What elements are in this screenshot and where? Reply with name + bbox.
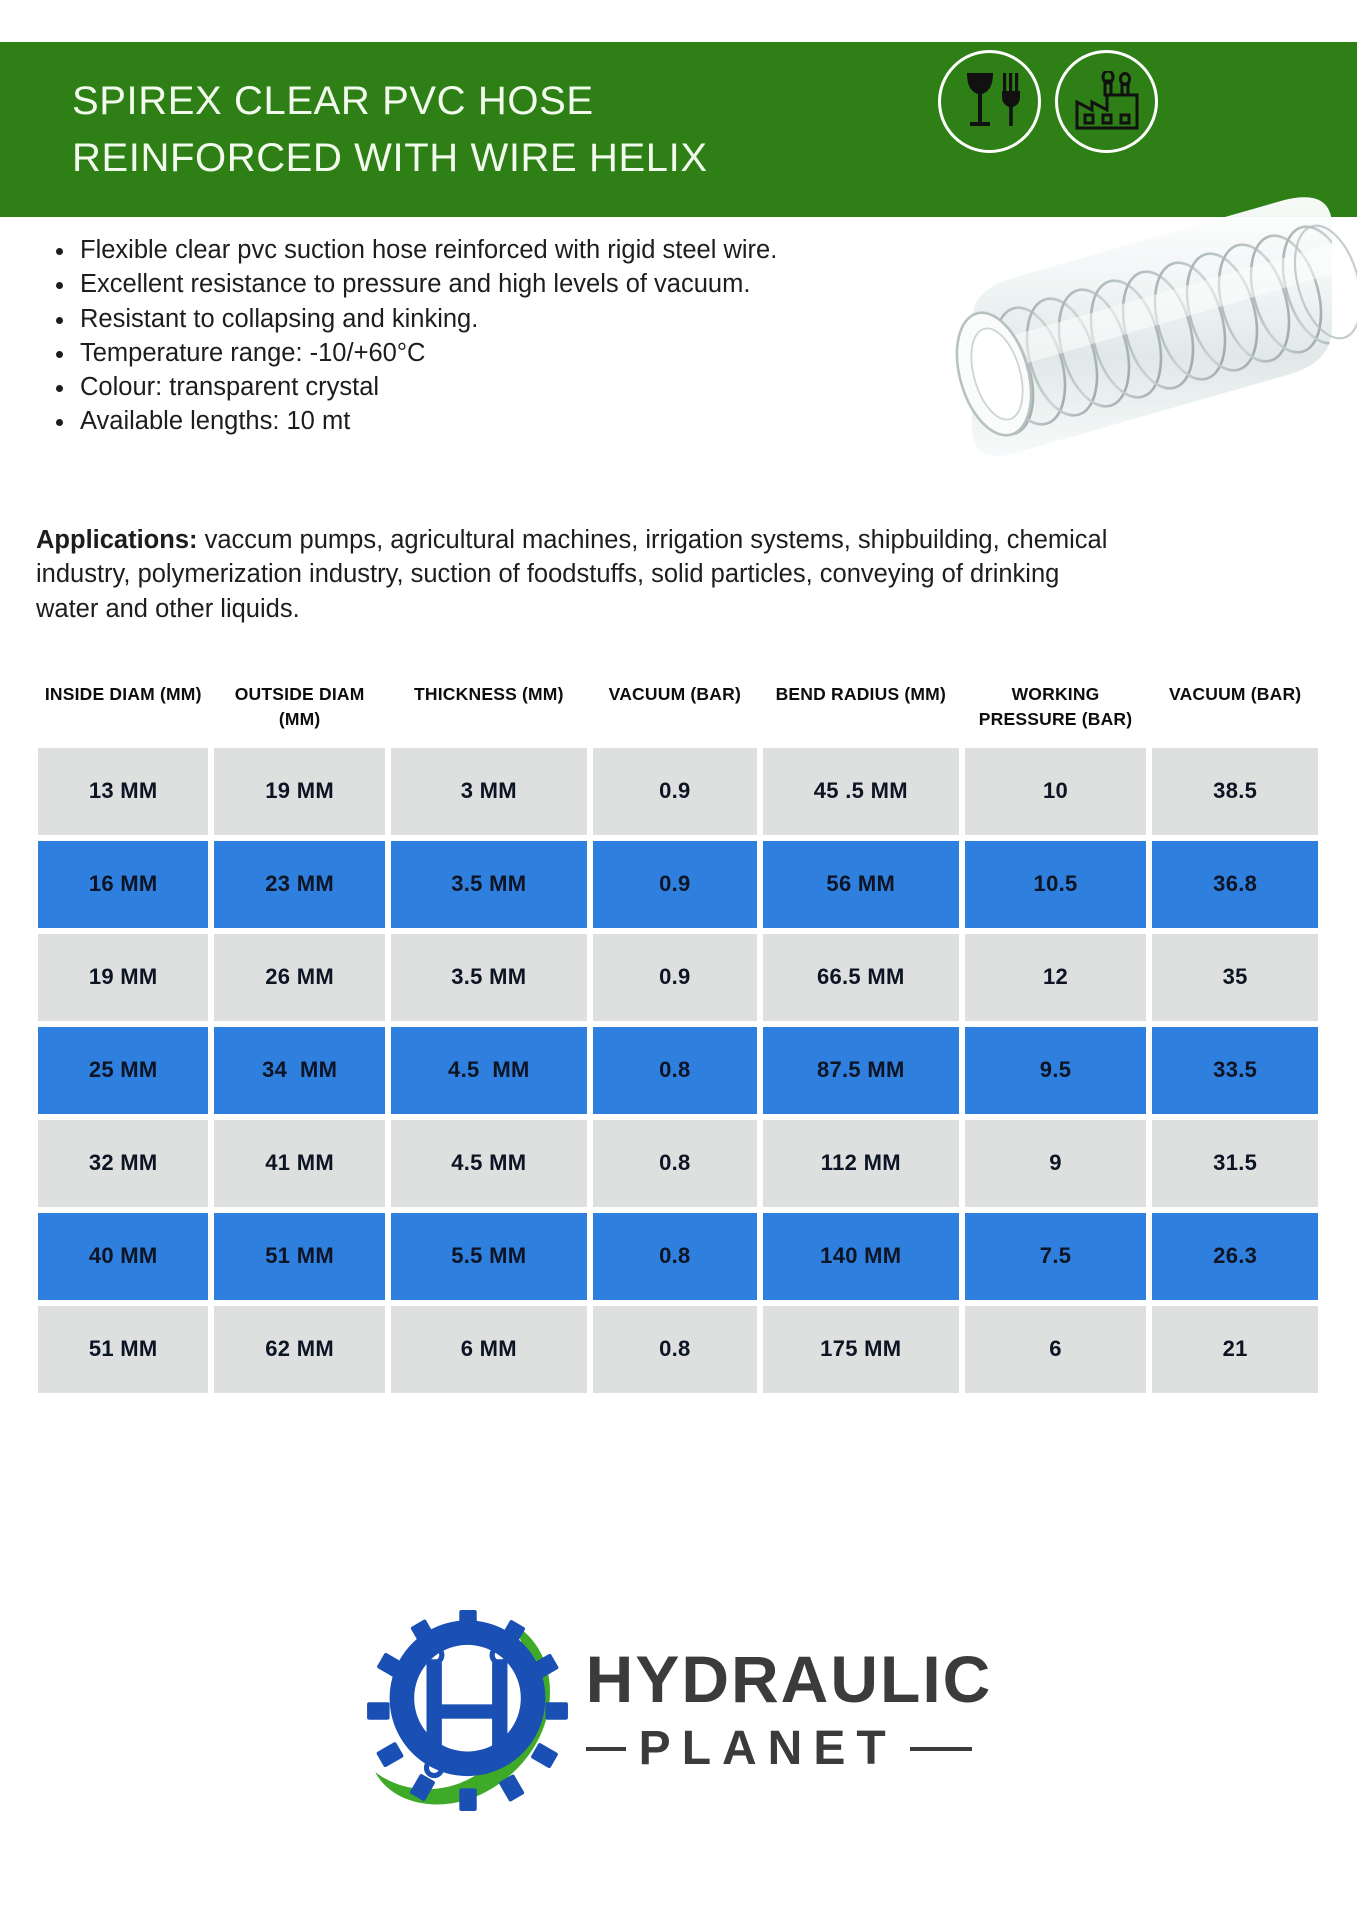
table-row: 16 MM23 MM3.5 MM0.956 MM10.536.8 [38, 841, 1318, 928]
table-cell: 26.3 [1152, 1213, 1318, 1300]
table-cell: 56 MM [763, 841, 959, 928]
list-item: Flexible clear pvc suction hose reinforc… [48, 233, 848, 267]
table-cell: 3.5 MM [391, 934, 587, 1021]
table-cell: 19 MM [214, 748, 384, 835]
table-cell: 62 MM [214, 1306, 384, 1393]
table-cell: 5.5 MM [391, 1213, 587, 1300]
column-header-inside-diam: INSIDE DIAM (MM) [38, 680, 208, 738]
table-cell: 36.8 [1152, 841, 1318, 928]
table-cell: 10.5 [965, 841, 1147, 928]
table-cell: 3 MM [391, 748, 587, 835]
column-header-outside-diam: OUTSIDE DIAM (MM) [214, 680, 384, 738]
table-cell: 10 [965, 748, 1147, 835]
table-cell: 25 MM [38, 1027, 208, 1114]
table-cell: 9 [965, 1120, 1147, 1207]
column-header-working-pressure: WORKING PRESSURE (BAR) [965, 680, 1147, 738]
table-row: 51 MM62 MM6 MM0.8175 MM621 [38, 1306, 1318, 1393]
datasheet-page: SPIREX CLEAR PVC HOSE REINFORCED WITH WI… [0, 0, 1357, 1920]
table-cell: 175 MM [763, 1306, 959, 1393]
table-cell: 112 MM [763, 1120, 959, 1207]
specifications-table: INSIDE DIAM (MM) OUTSIDE DIAM (MM) THICK… [38, 680, 1318, 1399]
table-cell: 40 MM [38, 1213, 208, 1300]
table-cell: 51 MM [214, 1213, 384, 1300]
table-cell: 4.5 MM [391, 1120, 587, 1207]
company-logo: HYDRAULIC PLANET [0, 1608, 1357, 1813]
table-header-row: INSIDE DIAM (MM) OUTSIDE DIAM (MM) THICK… [38, 680, 1318, 738]
table-cell: 0.9 [593, 934, 757, 1021]
table-cell: 140 MM [763, 1213, 959, 1300]
clear-pvc-hose-illustration [880, 178, 1357, 458]
table-cell: 41 MM [214, 1120, 384, 1207]
table-row: 13 MM19 MM3 MM0.945 .5 MM1038.5 [38, 748, 1318, 835]
table-cell: 4.5 MM [391, 1027, 587, 1114]
logo-secondary-line: PLANET [586, 1721, 993, 1776]
table-row: 25 MM34 MM4.5 MM0.887.5 MM9.533.5 [38, 1027, 1318, 1114]
table-cell: 13 MM [38, 748, 208, 835]
table-cell: 34 MM [214, 1027, 384, 1114]
table-cell: 87.5 MM [763, 1027, 959, 1114]
table-row: 40 MM51 MM5.5 MM0.8140 MM7.526.3 [38, 1213, 1318, 1300]
table-cell: 66.5 MM [763, 934, 959, 1021]
table-cell: 51 MM [38, 1306, 208, 1393]
applications-label: Applications: [36, 526, 198, 554]
table-row: 32 MM41 MM4.5 MM0.8112 MM931.5 [38, 1120, 1318, 1207]
logo-primary-word: HYDRAULIC [586, 1645, 993, 1714]
table-cell: 0.9 [593, 841, 757, 928]
table-cell: 26 MM [214, 934, 384, 1021]
applications-text: vaccum pumps, agricultural machines, irr… [36, 526, 1107, 623]
table-cell: 38.5 [1152, 748, 1318, 835]
table-cell: 21 [1152, 1306, 1318, 1393]
table-cell: 31.5 [1152, 1120, 1318, 1207]
table-cell: 0.8 [593, 1027, 757, 1114]
table-cell: 0.8 [593, 1120, 757, 1207]
logo-wordmark: HYDRAULIC PLANET [586, 1645, 993, 1776]
table-cell: 0.9 [593, 748, 757, 835]
table-cell: 0.8 [593, 1306, 757, 1393]
list-item: Resistant to collapsing and kinking. [48, 302, 848, 336]
list-item: Excellent resistance to pressure and hig… [48, 267, 848, 301]
table-cell: 9.5 [965, 1027, 1147, 1114]
table-cell: 0.8 [593, 1213, 757, 1300]
list-item: Temperature range: -10/+60°C [48, 336, 848, 370]
table-cell: 23 MM [214, 841, 384, 928]
industrial-badge [1055, 50, 1158, 153]
applications-paragraph: Applications: vaccum pumps, agricultural… [36, 523, 1111, 626]
logo-rule-right [910, 1747, 972, 1751]
header-badges [938, 50, 1158, 153]
hydraulic-planet-gear-icon [365, 1608, 570, 1813]
table-cell: 32 MM [38, 1120, 208, 1207]
table-cell: 3.5 MM [391, 841, 587, 928]
column-header-vacuum-bar-2: VACUUM (BAR) [1152, 680, 1318, 738]
column-header-vacuum-bar: VACUUM (BAR) [593, 680, 757, 738]
logo-secondary-word: PLANET [639, 1721, 897, 1776]
factory-icon [1074, 71, 1140, 133]
table-cell: 7.5 [965, 1213, 1147, 1300]
table-cell: 6 MM [391, 1306, 587, 1393]
list-item: Available lengths: 10 mt [48, 404, 848, 438]
table-cell: 33.5 [1152, 1027, 1318, 1114]
column-header-bend-radius: BEND RADIUS (MM) [763, 680, 959, 738]
page-title: SPIREX CLEAR PVC HOSE REINFORCED WITH WI… [72, 73, 708, 187]
logo-rule-left [586, 1747, 626, 1751]
product-image [880, 178, 1357, 458]
food-safe-icon [959, 69, 1021, 135]
table-body: 13 MM19 MM3 MM0.945 .5 MM1038.516 MM23 M… [38, 748, 1318, 1393]
table-cell: 19 MM [38, 934, 208, 1021]
table-cell: 45 .5 MM [763, 748, 959, 835]
column-header-thickness: THICKNESS (MM) [391, 680, 587, 738]
table-cell: 35 [1152, 934, 1318, 1021]
food-safe-badge [938, 50, 1041, 153]
list-item: Colour: transparent crystal [48, 370, 848, 404]
table-cell: 6 [965, 1306, 1147, 1393]
table-cell: 12 [965, 934, 1147, 1021]
feature-list: Flexible clear pvc suction hose reinforc… [48, 233, 848, 439]
table-row: 19 MM26 MM3.5 MM0.966.5 MM1235 [38, 934, 1318, 1021]
table-cell: 16 MM [38, 841, 208, 928]
